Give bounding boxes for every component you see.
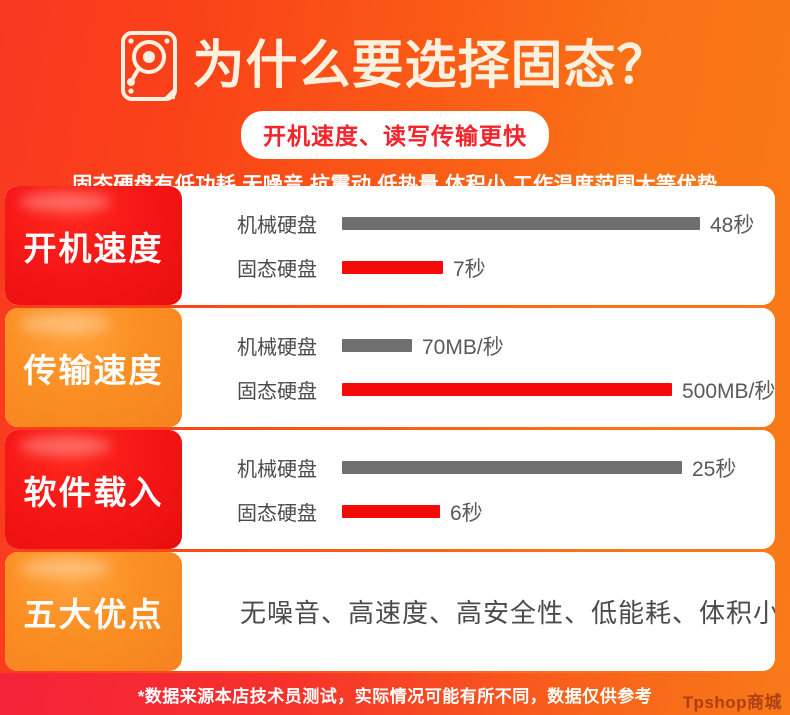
bar-series-label: 机械硬盘 [237, 453, 342, 482]
bar-row: 机械硬盘 25秒 [237, 446, 765, 490]
card-label-text: 五大优点 [24, 588, 164, 636]
card-transfer-speed: 传输速度 机械硬盘 70MB/秒 固态硬盘 500MB/秒 [5, 308, 775, 427]
bar-value: 25秒 [692, 453, 736, 483]
header-banner: 为什么要选择固态？ 开机速度、读写传输更快 固态硬盘有低功耗,无噪音,抗震动,低… [0, 0, 790, 186]
bar-gray [342, 461, 682, 474]
card-body-transfer-speed: 机械硬盘 70MB/秒 固态硬盘 500MB/秒 [182, 308, 775, 427]
bar-value: 500MB/秒 [682, 375, 775, 405]
card-boot-speed: 开机速度 机械硬盘 48秒 固态硬盘 7秒 [5, 186, 775, 305]
headline-row: 为什么要选择固态？ [0, 0, 790, 102]
bar-row: 固态硬盘 6秒 [237, 490, 765, 534]
card-body-boot-speed: 机械硬盘 48秒 固态硬盘 7秒 [182, 186, 775, 305]
bar-red [342, 383, 672, 396]
bar-row: 固态硬盘 7秒 [237, 246, 765, 290]
card-label-five-advantages: 五大优点 [5, 552, 182, 671]
card-body-software-load: 机械硬盘 25秒 固态硬盘 6秒 [182, 430, 775, 549]
bar-series-label: 机械硬盘 [237, 209, 342, 238]
bar-gray [342, 339, 412, 352]
card-five-advantages: 五大优点 无噪音、高速度、高安全性、低能耗、体积小 [5, 552, 775, 671]
card-label-text: 软件载入 [24, 466, 164, 514]
bar-row: 机械硬盘 70MB/秒 [237, 324, 775, 368]
hard-drive-icon [120, 30, 178, 102]
bar-row: 固态硬盘 500MB/秒 [237, 368, 775, 412]
bar-value: 7秒 [453, 253, 486, 283]
pill-row: 开机速度、读写传输更快 [0, 111, 790, 159]
comparison-card-list: 开机速度 机械硬盘 48秒 固态硬盘 7秒 传输速度 机械硬盘 70MB/秒 [5, 186, 775, 674]
card-label-text: 开机速度 [24, 222, 164, 270]
bar-series-label: 机械硬盘 [237, 331, 342, 360]
page-title: 为什么要选择固态？ [192, 40, 669, 92]
disclaimer-text: *数据来源本店技术员测试，实际情况可能有所不同，数据仅供参考 [138, 682, 653, 707]
card-label-transfer-speed: 传输速度 [5, 308, 182, 427]
footer-bar: *数据来源本店技术员测试，实际情况可能有所不同，数据仅供参考 Tpshop商城 [0, 673, 790, 715]
card-body-five-advantages: 无噪音、高速度、高安全性、低能耗、体积小 [182, 552, 775, 671]
bar-value: 6秒 [450, 497, 483, 527]
card-label-boot-speed: 开机速度 [5, 186, 182, 305]
advantages-text: 无噪音、高速度、高安全性、低能耗、体积小 [240, 593, 775, 630]
subtitle-badge: 开机速度、读写传输更快 [241, 111, 549, 159]
bar-series-label: 固态硬盘 [237, 253, 342, 282]
card-label-software-load: 软件载入 [5, 430, 182, 549]
bar-row: 机械硬盘 48秒 [237, 202, 765, 246]
card-software-load: 软件载入 机械硬盘 25秒 固态硬盘 6秒 [5, 430, 775, 549]
bar-value: 70MB/秒 [422, 331, 504, 361]
bar-gray [342, 217, 700, 230]
card-label-text: 传输速度 [24, 344, 164, 392]
shop-watermark: Tpshop商城 [683, 688, 782, 713]
bar-red [342, 505, 440, 518]
bar-red [342, 261, 443, 274]
bar-value: 48秒 [710, 209, 754, 239]
bar-series-label: 固态硬盘 [237, 497, 342, 526]
bar-series-label: 固态硬盘 [237, 375, 342, 404]
